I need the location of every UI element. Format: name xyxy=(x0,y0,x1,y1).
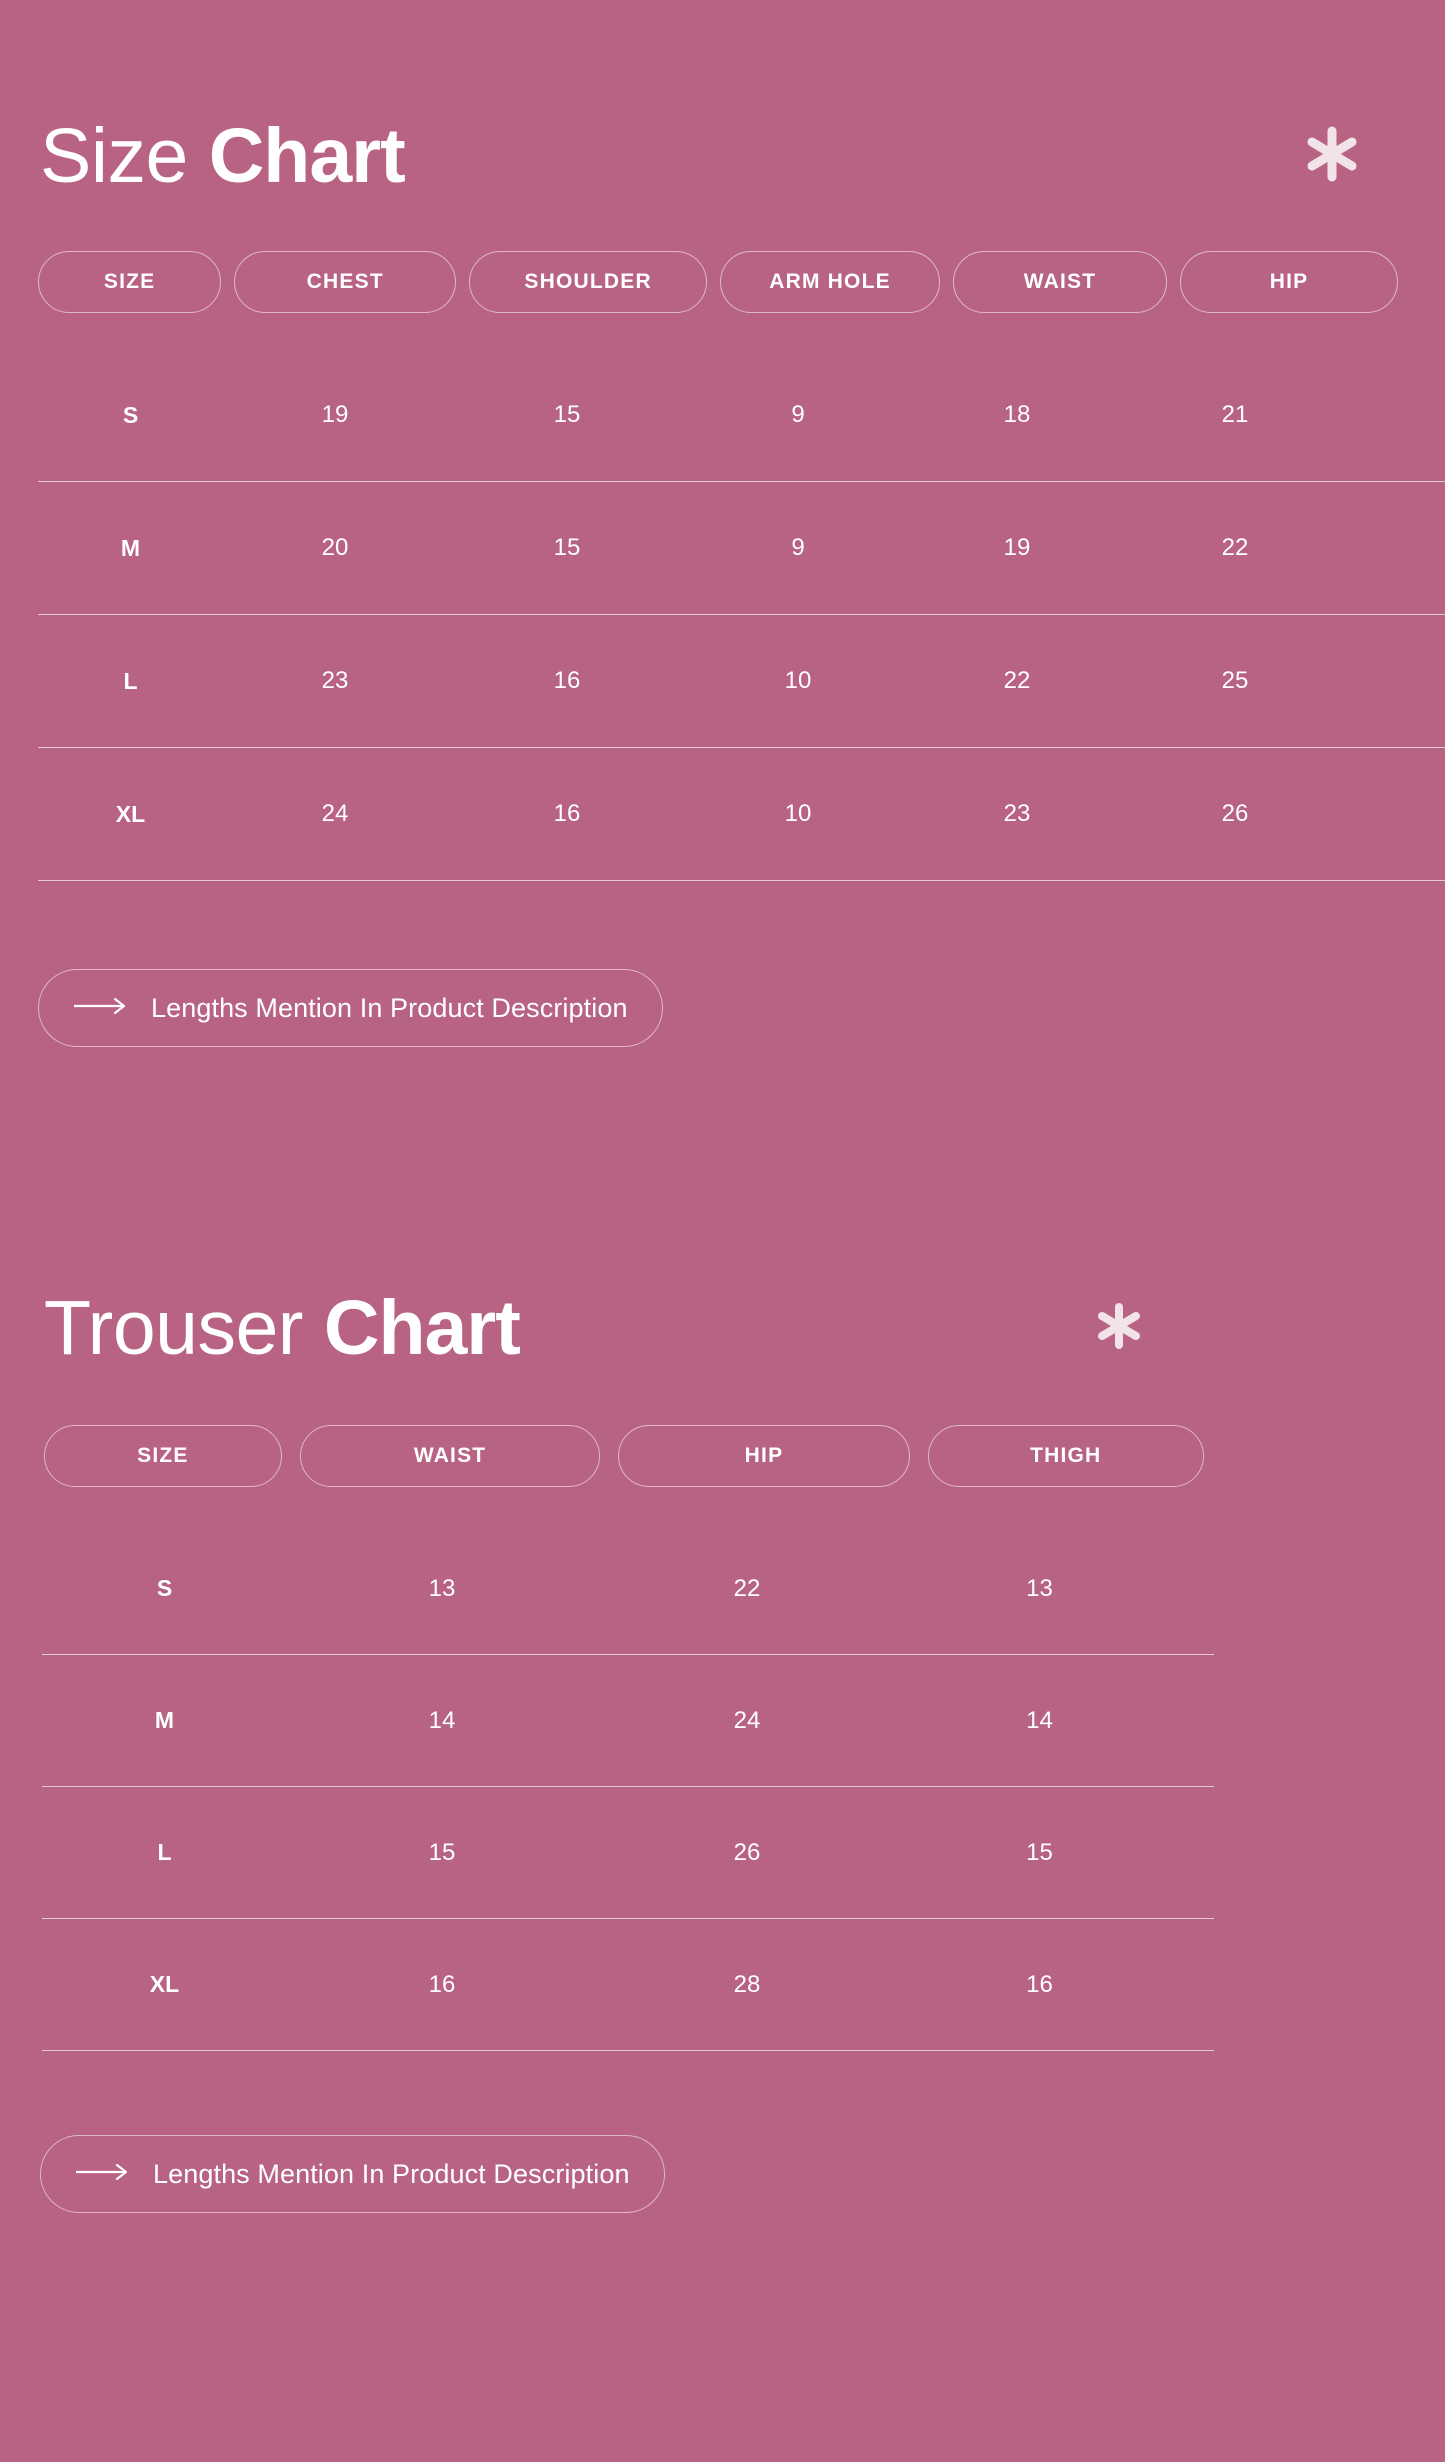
cell-waist: 14 xyxy=(287,1707,597,1735)
cell-arm-hole: 10 xyxy=(687,667,909,695)
table-row: XL 16 28 16 xyxy=(42,1919,1214,2051)
size-chart-title: Size Chart xyxy=(40,118,405,195)
table-row: L 23 16 10 22 25 xyxy=(38,615,1445,748)
cell-thigh: 13 xyxy=(897,1575,1182,1603)
size-chart-note-label: Lengths Mention In Product Description xyxy=(151,993,628,1024)
cell-waist: 18 xyxy=(909,401,1125,429)
size-chart-table: S 19 15 9 18 21 M 20 15 9 19 22 L 23 16 … xyxy=(38,349,1445,881)
cell-size: XL xyxy=(42,1971,287,1998)
cell-waist: 16 xyxy=(287,1971,597,1999)
column-header-size[interactable]: SIZE xyxy=(38,251,221,313)
cell-hip: 28 xyxy=(597,1971,897,1999)
table-row: S 19 15 9 18 21 xyxy=(38,349,1445,482)
column-header-size[interactable]: SIZE xyxy=(44,1425,282,1487)
cell-shoulder: 16 xyxy=(447,800,687,828)
asterisk-icon xyxy=(1094,1301,1144,1356)
cell-size: M xyxy=(42,1707,287,1734)
cell-shoulder: 16 xyxy=(447,667,687,695)
trouser-chart-section: Trouser Chart SIZE WAIST HIP THIGH xyxy=(0,1290,1445,2213)
size-chart-page: Size Chart SIZE CHEST SHOULDER ARM HOLE … xyxy=(0,0,1445,2462)
column-header-hip[interactable]: HIP xyxy=(1180,251,1398,313)
cell-thigh: 16 xyxy=(897,1971,1182,1999)
size-chart-note-button[interactable]: Lengths Mention In Product Description xyxy=(38,969,663,1047)
cell-chest: 24 xyxy=(223,800,447,828)
table-row: S 13 22 13 xyxy=(42,1523,1214,1655)
cell-hip: 22 xyxy=(1125,534,1345,562)
cell-thigh: 15 xyxy=(897,1839,1182,1867)
size-chart-section: Size Chart SIZE CHEST SHOULDER ARM HOLE … xyxy=(0,0,1445,1047)
table-row: XL 24 16 10 23 26 xyxy=(38,748,1445,881)
cell-waist: 19 xyxy=(909,534,1125,562)
cell-waist: 13 xyxy=(287,1575,597,1603)
table-row: M 20 15 9 19 22 xyxy=(38,482,1445,615)
cell-waist: 15 xyxy=(287,1839,597,1867)
cell-shoulder: 15 xyxy=(447,534,687,562)
cell-arm-hole: 10 xyxy=(687,800,909,828)
size-chart-header: Size Chart xyxy=(40,118,1361,195)
cell-size: M xyxy=(38,535,223,562)
arrow-right-icon xyxy=(73,997,129,1020)
cell-size: L xyxy=(42,1839,287,1866)
cell-size: S xyxy=(42,1575,287,1602)
cell-chest: 19 xyxy=(223,401,447,429)
cell-hip: 26 xyxy=(597,1839,897,1867)
column-header-thigh[interactable]: THIGH xyxy=(928,1425,1205,1487)
size-chart-title-bold: Chart xyxy=(209,113,405,199)
cell-arm-hole: 9 xyxy=(687,534,909,562)
cell-hip: 24 xyxy=(597,1707,897,1735)
trouser-chart-title-bold: Chart xyxy=(324,1285,520,1371)
column-header-shoulder[interactable]: SHOULDER xyxy=(469,251,707,313)
size-chart-title-light: Size xyxy=(40,113,188,199)
cell-size: S xyxy=(38,402,223,429)
cell-waist: 22 xyxy=(909,667,1125,695)
column-header-waist[interactable]: WAIST xyxy=(300,1425,601,1487)
cell-size: L xyxy=(38,668,223,695)
cell-shoulder: 15 xyxy=(447,401,687,429)
cell-arm-hole: 9 xyxy=(687,401,909,429)
trouser-chart-header: Trouser Chart xyxy=(44,1290,1144,1367)
cell-size: XL xyxy=(38,801,223,828)
column-header-chest[interactable]: CHEST xyxy=(234,251,456,313)
trouser-chart-title: Trouser Chart xyxy=(44,1290,520,1367)
cell-thigh: 14 xyxy=(897,1707,1182,1735)
table-row: L 15 26 15 xyxy=(42,1787,1214,1919)
trouser-chart-note-label: Lengths Mention In Product Description xyxy=(153,2159,630,2190)
trouser-chart-title-light: Trouser xyxy=(44,1285,303,1371)
cell-hip: 22 xyxy=(597,1575,897,1603)
cell-hip: 21 xyxy=(1125,401,1345,429)
arrow-right-icon xyxy=(75,2163,131,2186)
asterisk-icon xyxy=(1303,125,1361,188)
column-header-arm-hole[interactable]: ARM HOLE xyxy=(720,251,940,313)
cell-chest: 20 xyxy=(223,534,447,562)
trouser-chart-table: S 13 22 13 M 14 24 14 L 15 26 15 XL 16 2… xyxy=(42,1523,1214,2051)
cell-hip: 25 xyxy=(1125,667,1345,695)
trouser-chart-note-button[interactable]: Lengths Mention In Product Description xyxy=(40,2135,665,2213)
cell-hip: 26 xyxy=(1125,800,1345,828)
cell-waist: 23 xyxy=(909,800,1125,828)
table-row: M 14 24 14 xyxy=(42,1655,1214,1787)
trouser-chart-column-headers: SIZE WAIST HIP THIGH xyxy=(44,1425,1204,1487)
size-chart-column-headers: SIZE CHEST SHOULDER ARM HOLE WAIST HIP xyxy=(38,251,1398,313)
cell-chest: 23 xyxy=(223,667,447,695)
column-header-hip[interactable]: HIP xyxy=(618,1425,909,1487)
column-header-waist[interactable]: WAIST xyxy=(953,251,1167,313)
